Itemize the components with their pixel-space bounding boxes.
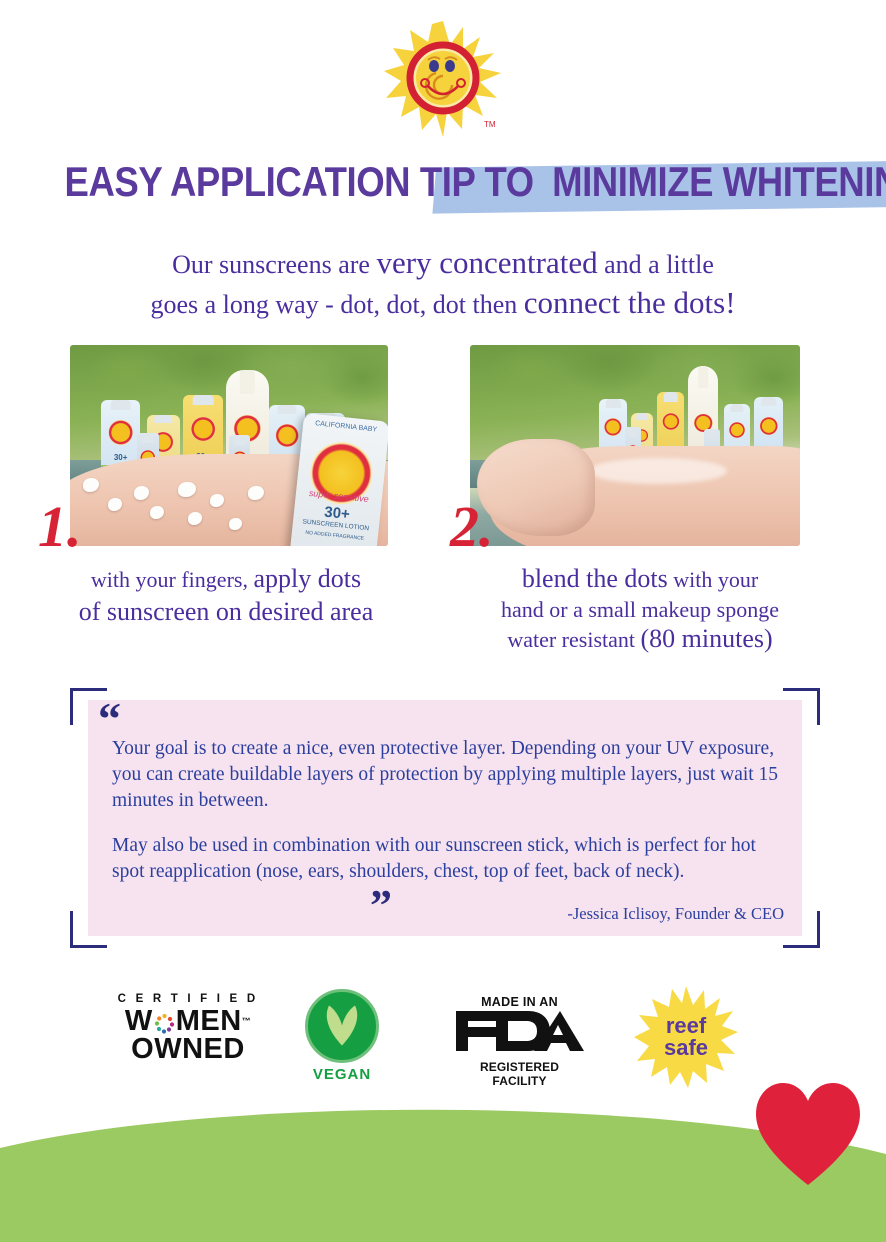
corner-bracket-top-right — [783, 688, 820, 725]
step-2-caption-line3-b: (80 minutes) — [641, 624, 773, 653]
step-1-caption-line1-a: with your fingers, — [91, 567, 254, 592]
reef-safe-line-1: reef — [634, 1015, 738, 1037]
brand-logo: TM — [0, 18, 886, 146]
step-1-caption-line-1: with your fingers, apply dots — [26, 563, 426, 596]
vegan-leaf-icon — [321, 1002, 363, 1051]
women-owned-word: W MEN™ — [112, 1007, 264, 1035]
fda-top-label: MADE IN AN — [452, 995, 587, 1009]
step-2-number: 2. — [450, 498, 494, 556]
page-title-plain: EASY APPLICATION TIP TO — [65, 158, 544, 205]
vegan-circle — [305, 989, 379, 1063]
subtitle-line2-part-a: goes a long way - dot, dot, dot then — [150, 290, 523, 319]
women-owned-trademark: ™ — [242, 1017, 252, 1026]
founder-quote-block: “ Your goal is to create a nice, even pr… — [70, 688, 820, 948]
certified-women-owned-badge: C E R T I F I E D W MEN™ — [112, 993, 264, 1064]
women-owned-owned-word: OWNED — [112, 1035, 264, 1063]
quote-close-mark: ” — [370, 884, 392, 928]
quote-attribution: -Jessica Iclisoy, Founder & CEO — [567, 904, 784, 924]
subtitle-line-2: goes a long way - dot, dot, dot then con… — [0, 283, 886, 323]
sunscreen-dot — [83, 478, 99, 492]
page-title-highlighted: MINIMIZE WHITENING — [543, 158, 886, 205]
step-2-caption: blend the dots with your hand or a small… — [440, 563, 840, 656]
reef-safe-badge: reef safe — [634, 985, 738, 1089]
sunscreen-dot — [178, 482, 195, 497]
subtitle-line-1: Our sunscreens are very concentrated and… — [0, 243, 886, 283]
step-2-caption-line-2: hand or a small makeup sponge — [440, 596, 840, 624]
step-2-caption-line-3: water resistant (80 minutes) — [440, 623, 840, 656]
quote-paragraph-2: May also be used in combination with our… — [112, 833, 790, 885]
step-1-caption: with your fingers, apply dots of sunscre… — [26, 563, 426, 629]
sunscreen-dot — [150, 506, 164, 519]
quote-paragraph-1: Your goal is to create a nice, even prot… — [112, 736, 790, 814]
subtitle-line1-part-c: and a little — [598, 250, 714, 279]
reef-safe-text: reef safe — [634, 1015, 738, 1059]
step-1-caption-line-2: of sunscreen on desired area — [26, 596, 426, 629]
corner-bracket-bottom-right — [783, 911, 820, 948]
sunscreen-dot — [229, 518, 242, 530]
women-owned-w: W — [125, 1007, 153, 1035]
vegan-label: VEGAN — [296, 1066, 388, 1083]
subtitle-line1-part-b: very concentrated — [376, 245, 597, 280]
women-owned-people-icon — [154, 1011, 175, 1032]
step-2-caption-line1-b: with your — [668, 567, 758, 592]
fda-monogram-icon — [452, 1009, 587, 1058]
step-1-number: 1. — [38, 498, 82, 556]
certification-badges: C E R T I F I E D W MEN™ — [0, 985, 886, 1095]
step-1-caption-line1-b: apply dots — [253, 564, 361, 593]
sun-eye-right — [445, 60, 455, 72]
women-owned-certified-label: C E R T I F I E D — [112, 993, 264, 1005]
footer-decoration — [0, 1082, 886, 1242]
step-2-photo: 30+ 30+ 30+ 30+ — [470, 345, 800, 546]
heart-icon — [754, 1081, 862, 1192]
subtitle-line1-part-a: Our sunscreens are — [172, 250, 376, 279]
subtitle-line2-part-b: connect the dots! — [524, 285, 736, 320]
vegan-badge: VEGAN — [296, 989, 388, 1083]
quote-text: Your goal is to create a nice, even prot… — [112, 736, 790, 904]
step-2-caption-line-1: blend the dots with your — [440, 563, 840, 596]
step-2-caption-line1-a: blend the dots — [522, 564, 668, 593]
logo-trademark: TM — [484, 120, 496, 129]
step-2-caption-line3-a: water resistant — [507, 627, 640, 652]
featured-product-tube: CALIFORNIA BABY super sensitive 30+ SUNS… — [288, 413, 388, 546]
page-title: EASY APPLICATION TIP TO MINIMIZE WHITENI… — [0, 158, 886, 224]
page-subtitle: Our sunscreens are very concentrated and… — [0, 243, 886, 322]
fda-registered-facility-badge: MADE IN AN REGISTERED FACILITY — [452, 995, 587, 1088]
blended-lotion-smear — [589, 458, 728, 484]
women-owned-men: MEN — [176, 1007, 242, 1035]
reef-safe-line-2: safe — [634, 1037, 738, 1059]
sun-eye-left — [429, 60, 439, 72]
corner-bracket-bottom-left — [70, 911, 107, 948]
step-1-photo: 30+ 30+ 30+ 30+ 30+ CALIFORNIA BABY supe… — [70, 345, 388, 546]
